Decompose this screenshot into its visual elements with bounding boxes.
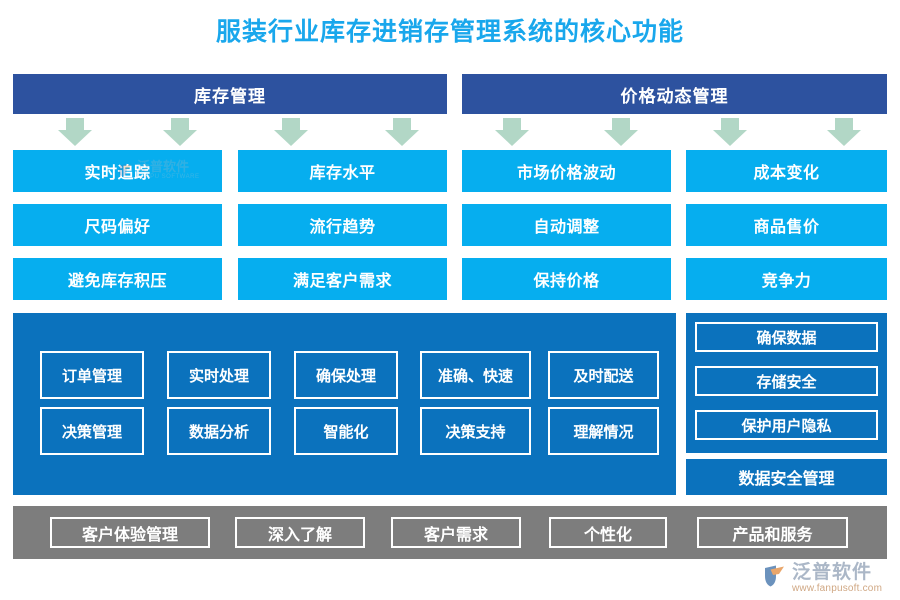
feature-cell[interactable]: 竞争力: [686, 258, 887, 300]
arrow-head: [58, 130, 92, 146]
feature-cell[interactable]: 保持价格: [462, 258, 671, 300]
operations-chip[interactable]: 理解情况: [548, 407, 659, 455]
feature-cell[interactable]: 避免库存积压: [13, 258, 222, 300]
down-arrow-icon: [274, 118, 308, 146]
customer-experience-bar: 客户体验管理 深入了解 客户需求 个性化 产品和服务: [13, 506, 887, 559]
feature-cell[interactable]: 成本变化: [686, 150, 887, 192]
feature-cell[interactable]: 库存水平: [238, 150, 447, 192]
security-chip[interactable]: 确保数据: [695, 322, 878, 352]
fanpu-logo: 泛普软件 www.fanpusoft.com: [762, 563, 882, 595]
security-chip[interactable]: 保护用户隐私: [695, 410, 878, 440]
operations-chip[interactable]: 准确、快速: [420, 351, 531, 399]
group-header-pricing: 价格动态管理: [462, 74, 887, 114]
arrow-head: [274, 130, 308, 146]
data-security-panel: 确保数据 存储安全 保护用户隐私: [686, 313, 887, 453]
arrow-head: [385, 130, 419, 146]
arrow-head: [713, 130, 747, 146]
operations-chip[interactable]: 智能化: [294, 407, 398, 455]
feature-cell[interactable]: 实时追踪: [13, 150, 222, 192]
down-arrow-icon: [385, 118, 419, 146]
customer-chip[interactable]: 客户需求: [391, 517, 521, 548]
down-arrow-icon: [713, 118, 747, 146]
arrow-head: [495, 130, 529, 146]
page-title: 服装行业库存进销存管理系统的核心功能: [0, 12, 900, 48]
feature-cell[interactable]: 商品售价: [686, 204, 887, 246]
customer-chip[interactable]: 个性化: [549, 517, 667, 548]
customer-chip[interactable]: 产品和服务: [697, 517, 848, 548]
diagram-canvas: 服装行业库存进销存管理系统的核心功能 库存管理 价格动态管理 实时追踪 尺码偏好…: [0, 0, 900, 600]
down-arrow-icon: [495, 118, 529, 146]
logo-text: 泛普软件: [792, 563, 882, 583]
down-arrow-icon: [827, 118, 861, 146]
down-arrow-icon: [604, 118, 638, 146]
data-security-label[interactable]: 数据安全管理: [686, 459, 887, 495]
arrow-head: [827, 130, 861, 146]
arrow-head: [604, 130, 638, 146]
feature-cell[interactable]: 流行趋势: [238, 204, 447, 246]
fanpu-mark-icon: [762, 563, 788, 589]
logo-url: www.fanpusoft.com: [792, 583, 882, 595]
feature-cell[interactable]: 自动调整: [462, 204, 671, 246]
feature-cell[interactable]: 尺码偏好: [13, 204, 222, 246]
operations-chip[interactable]: 实时处理: [167, 351, 271, 399]
customer-chip[interactable]: 客户体验管理: [50, 517, 210, 548]
operations-chip[interactable]: 确保处理: [294, 351, 398, 399]
arrow-head: [163, 130, 197, 146]
security-chip[interactable]: 存储安全: [695, 366, 878, 396]
operations-chip[interactable]: 订单管理: [40, 351, 144, 399]
down-arrow-icon: [163, 118, 197, 146]
operations-chip[interactable]: 及时配送: [548, 351, 659, 399]
operations-chip[interactable]: 数据分析: [167, 407, 271, 455]
operations-panel: 订单管理 实时处理 确保处理 准确、快速 及时配送 决策管理 数据分析 智能化 …: [13, 313, 676, 495]
feature-cell[interactable]: 市场价格波动: [462, 150, 671, 192]
operations-chip[interactable]: 决策管理: [40, 407, 144, 455]
feature-cell[interactable]: 满足客户需求: [238, 258, 447, 300]
customer-chip[interactable]: 深入了解: [235, 517, 365, 548]
operations-chip[interactable]: 决策支持: [420, 407, 531, 455]
down-arrow-icon: [58, 118, 92, 146]
group-header-inventory: 库存管理: [13, 74, 447, 114]
